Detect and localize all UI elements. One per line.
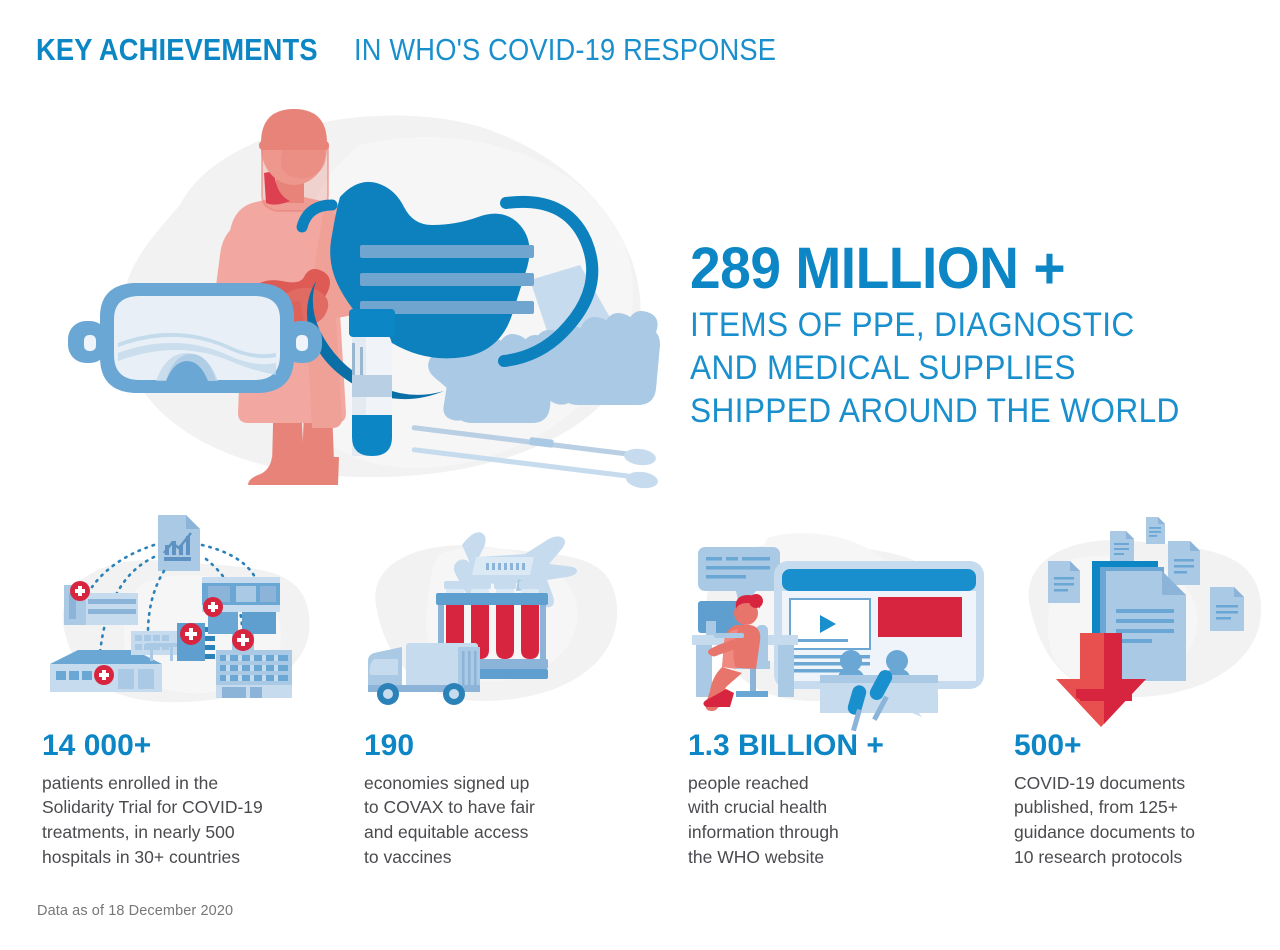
stat-desc-line-3: information through (688, 820, 988, 845)
who-website-outreach-icon (678, 509, 978, 709)
hero-sub-line-3: SHIPPED AROUND THE WORLD (690, 390, 1211, 433)
page-title: KEY ACHIEVEMENTS IN WHO'S COVID-19 RESPO… (36, 32, 834, 68)
hero-text-block: 289 MILLION + ITEMS OF PPE, DIAGNOSTIC A… (690, 240, 1250, 434)
test-tube-shape (349, 309, 395, 456)
stat-description: COVID-19 documents published, from 125+ … (1014, 771, 1280, 870)
infographic-page: KEY ACHIEVEMENTS IN WHO'S COVID-19 RESPO… (0, 0, 1280, 950)
stat-desc-line-1: COVID-19 documents (1014, 771, 1280, 796)
stat-card-documents: 500+ COVID-19 documents published, from … (1008, 505, 1280, 925)
hero-statistic-description: ITEMS OF PPE, DIAGNOSTIC AND MEDICAL SUP… (690, 304, 1211, 434)
hero-section: 289 MILLION + ITEMS OF PPE, DIAGNOSTIC A… (0, 85, 1280, 505)
stat-desc-line-1: people reached (688, 771, 988, 796)
stat-text-block: 1.3 BILLION + people reached with crucia… (688, 730, 988, 870)
vaccine-distribution-icon (358, 509, 648, 709)
documents-download-icon (1004, 509, 1280, 709)
stat-number: 190 (364, 730, 664, 762)
hero-sub-line-1: ITEMS OF PPE, DIAGNOSTIC (690, 304, 1211, 347)
stat-desc-line-4: to vaccines (364, 845, 664, 870)
stat-desc-line-2: published, from 125+ (1014, 795, 1280, 820)
data-date-note: Data as of 18 December 2020 (37, 903, 233, 919)
stat-desc-line-4: 10 research protocols (1014, 845, 1280, 870)
stat-card-solidarity-trial: 14 000+ patients enrolled in the Solidar… (36, 505, 356, 925)
stat-text-block: 190 economies signed up to COVAX to have… (364, 730, 664, 870)
health-worker-ppe-supplies-illustration (60, 85, 700, 495)
stat-card-covax: 190 economies signed up to COVAX to have… (358, 505, 678, 925)
stat-text-block: 14 000+ patients enrolled in the Solidar… (42, 730, 342, 870)
stat-desc-line-3: treatments, in nearly 500 (42, 820, 342, 845)
stat-desc-line-2: with crucial health (688, 795, 988, 820)
stat-desc-line-1: patients enrolled in the (42, 771, 342, 796)
stat-description: patients enrolled in the Solidarity Tria… (42, 771, 342, 870)
stat-desc-line-4: hospitals in 30+ countries (42, 845, 342, 870)
hero-statistic-number: 289 MILLION + (690, 240, 1222, 298)
hospital-network-icon (36, 509, 336, 709)
report-document (158, 515, 200, 571)
stat-number: 500+ (1014, 730, 1280, 762)
stat-desc-line-3: and equitable access (364, 820, 664, 845)
hero-sub-line-2: AND MEDICAL SUPPLIES (690, 347, 1211, 390)
stat-desc-line-4: the WHO website (688, 845, 988, 870)
stat-text-block: 500+ COVID-19 documents published, from … (1014, 730, 1280, 870)
hospital-building-2 (50, 650, 162, 692)
stat-desc-line-1: economies signed up (364, 771, 664, 796)
download-base-bar (1080, 692, 1132, 701)
page-title-strong: KEY ACHIEVEMENTS (36, 32, 318, 68)
safety-goggles-shape (68, 283, 322, 393)
stat-number: 1.3 BILLION + (688, 730, 988, 762)
delivery-truck-shape (368, 643, 480, 705)
statistics-row: 14 000+ patients enrolled in the Solidar… (0, 505, 1280, 925)
stat-desc-line-2: Solidarity Trial for COVID-19 (42, 795, 342, 820)
stat-number: 14 000+ (42, 730, 342, 762)
stat-desc-line-3: guidance documents to (1014, 820, 1280, 845)
stat-description: people reached with crucial health infor… (688, 771, 988, 870)
browser-window-shape (774, 561, 984, 689)
stat-description: economies signed up to COVAX to have fai… (364, 771, 664, 870)
page-title-light: IN WHO'S COVID-19 RESPONSE (354, 32, 776, 68)
stat-card-who-website: 1.3 BILLION + people reached with crucia… (682, 505, 1002, 925)
stat-desc-line-2: to COVAX to have fair (364, 795, 664, 820)
